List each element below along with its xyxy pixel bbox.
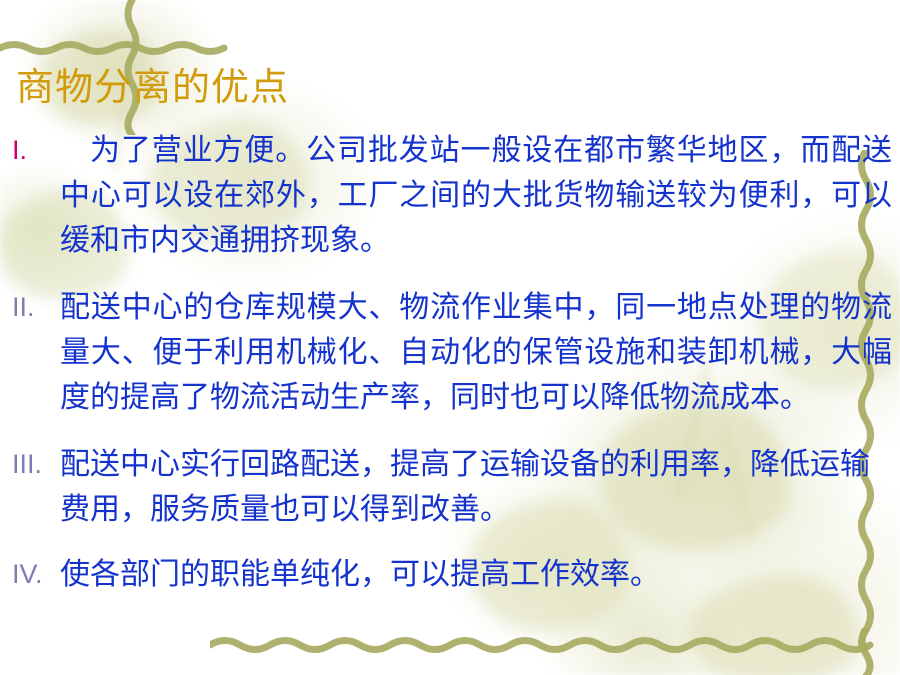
list-item-text: 为了营业方便。公司批发站一般设在都市繁华地区，而配送中心可以设在郊外，工厂之间的… xyxy=(60,128,892,263)
list-item: I. 为了营业方便。公司批发站一般设在都市繁华地区，而配送中心可以设在郊外，工厂… xyxy=(6,128,892,263)
list-item: III. 配送中心实行回路配送，提高了运输设备的利用率，降低运输费用，服务质量也… xyxy=(6,442,892,532)
list-marker: III. xyxy=(6,442,60,487)
list-item-text: 配送中心的仓库规模大、物流作业集中，同一地点处理的物流量大、便于利用机械化、自动… xyxy=(60,285,892,420)
page-title: 商物分离的优点 xyxy=(16,66,289,110)
content-list: I. 为了营业方便。公司批发站一般设在都市繁华地区，而配送中心可以设在郊外，工厂… xyxy=(6,128,892,615)
list-item-text: 使各部门的职能单纯化，可以提高工作效率。 xyxy=(60,552,892,597)
list-marker: I. xyxy=(6,128,60,173)
list-item: II. 配送中心的仓库规模大、物流作业集中，同一地点处理的物流量大、便于利用机械… xyxy=(6,285,892,420)
presentation-slide: 商物分离的优点 I. 为了营业方便。公司批发站一般设在都市繁华地区，而配送中心可… xyxy=(0,0,900,675)
list-item: IV. 使各部门的职能单纯化，可以提高工作效率。 xyxy=(6,552,892,597)
list-marker: II. xyxy=(6,285,60,330)
list-item-text: 配送中心实行回路配送，提高了运输设备的利用率，降低运输费用，服务质量也可以得到改… xyxy=(60,442,892,532)
list-marker: IV. xyxy=(6,552,60,597)
